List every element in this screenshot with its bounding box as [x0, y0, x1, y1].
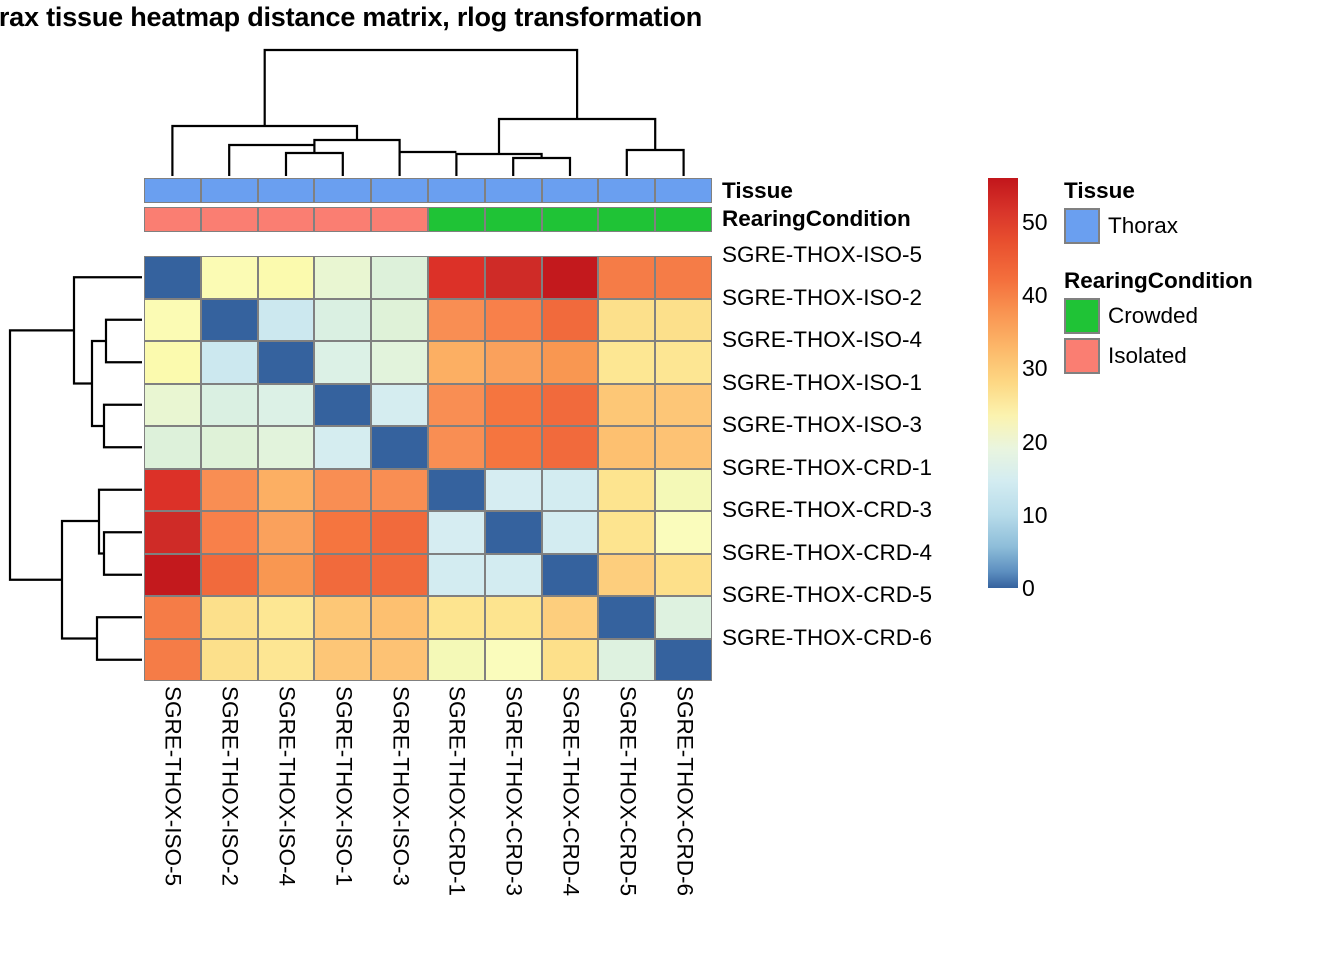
row-label: SGRE-THOX-ISO-3 [722, 404, 1002, 447]
row-label: SGRE-THOX-ISO-2 [722, 277, 1002, 320]
column-label-slot: SGRE-THOX-CRD-6 [655, 686, 712, 956]
distance-matrix-heatmap [144, 256, 712, 681]
heatmap-cell [428, 639, 485, 682]
heatmap-cell [655, 639, 712, 682]
tissue-annotation-cell [258, 178, 315, 203]
row-label: SGRE-THOX-ISO-1 [722, 362, 1002, 405]
heatmap-cell [144, 426, 201, 469]
heatmap-cell [428, 384, 485, 427]
tissue-annotation-cell [428, 178, 485, 203]
rearing-annotation-cell [201, 207, 258, 232]
heatmap-cell [258, 511, 315, 554]
heatmap-cell [485, 554, 542, 597]
heatmap-cell [371, 426, 428, 469]
rearing-annotation-cell [655, 207, 712, 232]
annotation-bars [144, 178, 712, 236]
row-label: SGRE-THOX-CRD-3 [722, 489, 1002, 532]
heatmap-cell [258, 384, 315, 427]
heatmap-cell [314, 299, 371, 342]
column-label: SGRE-THOX-CRD-3 [502, 686, 525, 896]
heatmap-cell [144, 299, 201, 342]
colorbar-tick-label: 0 [1022, 577, 1035, 600]
heatmap-cell [144, 256, 201, 299]
heatmap-cell [542, 596, 599, 639]
heatmap-cell [201, 469, 258, 512]
row-label: SGRE-THOX-CRD-1 [722, 447, 1002, 490]
heatmap-cell [485, 469, 542, 512]
heatmap-cell [201, 596, 258, 639]
rearing-annotation-cell [144, 207, 201, 232]
colorbar-tick-label: 10 [1022, 504, 1048, 527]
legend-title: Tissue [1064, 178, 1324, 204]
heatmap-cell [371, 469, 428, 512]
heatmap-cell [201, 299, 258, 342]
rearing-annotation-cell [371, 207, 428, 232]
heatmap-cell [201, 554, 258, 597]
legend-label: Thorax [1108, 213, 1178, 239]
heatmap-cell [258, 596, 315, 639]
heatmap-cell [201, 639, 258, 682]
heatmap-cell [598, 384, 655, 427]
row-dendrogram [4, 256, 142, 680]
heatmap-cell [542, 426, 599, 469]
heatmap-cell [371, 384, 428, 427]
colorbar-tick-label: 20 [1022, 431, 1048, 454]
row-label: SGRE-THOX-ISO-5 [722, 234, 1002, 277]
heatmap-cell [258, 299, 315, 342]
column-label-slot: SGRE-THOX-CRD-5 [598, 686, 655, 956]
heatmap-cell [428, 469, 485, 512]
heatmap-cell [655, 426, 712, 469]
heatmap-cell [485, 511, 542, 554]
heatmap-cell [485, 384, 542, 427]
heatmap-cell [485, 596, 542, 639]
heatmap-cell [314, 341, 371, 384]
row-label: SGRE-THOX-CRD-4 [722, 532, 1002, 575]
tissue-annotation-cell [485, 178, 542, 203]
heatmap-cell [655, 554, 712, 597]
heatmap-cell [598, 341, 655, 384]
legend-title: RearingCondition [1064, 268, 1324, 294]
heatmap-cell [428, 426, 485, 469]
column-label: SGRE-THOX-ISO-3 [388, 686, 411, 886]
tissue-annotation-cell [542, 178, 599, 203]
heatmap-cell [201, 341, 258, 384]
column-label: SGRE-THOX-CRD-1 [445, 686, 468, 896]
column-dendrogram [144, 44, 712, 176]
column-label-slot: SGRE-THOX-ISO-5 [144, 686, 201, 956]
column-label: SGRE-THOX-CRD-4 [559, 686, 582, 896]
page-title: Thorax tissue heatmap distance matrix, r… [0, 2, 702, 33]
column-label-slot: SGRE-THOX-ISO-4 [258, 686, 315, 956]
heatmap-cell [314, 639, 371, 682]
heatmap-cell [144, 596, 201, 639]
legend-spacer [1064, 246, 1324, 268]
heatmap-cell [201, 511, 258, 554]
legend-label: Crowded [1108, 303, 1198, 329]
colorbar-tick-label: 50 [1022, 211, 1048, 234]
column-label: SGRE-THOX-ISO-4 [275, 686, 298, 886]
heatmap-cell [542, 384, 599, 427]
heatmap-cell [314, 384, 371, 427]
rearing-annotation-cell [485, 207, 542, 232]
heatmap-cell [428, 341, 485, 384]
heatmap-cell [314, 511, 371, 554]
legend-panel: TissueThoraxRearingConditionCrowdedIsola… [1064, 178, 1324, 376]
heatmap-cell [598, 426, 655, 469]
legend-entry: Isolated [1064, 336, 1324, 376]
colorbar-tick-label: 40 [1022, 284, 1048, 307]
heatmap-cell [542, 299, 599, 342]
heatmap-cell [428, 554, 485, 597]
heatmap-cell [655, 596, 712, 639]
row-label-column: Tissue RearingCondition SGRE-THOX-ISO-5S… [722, 178, 1002, 659]
heatmap-cell [485, 256, 542, 299]
heatmap-cell [598, 596, 655, 639]
heatmap-cell [144, 554, 201, 597]
column-label-slot: SGRE-THOX-CRD-4 [542, 686, 599, 956]
heatmap-cell [598, 554, 655, 597]
heatmap-cell [258, 639, 315, 682]
heatmap-cell [598, 469, 655, 512]
heatmap-cell [542, 469, 599, 512]
column-label: SGRE-THOX-CRD-5 [616, 686, 639, 896]
heatmap-cell [428, 511, 485, 554]
heatmap-cell [258, 469, 315, 512]
rearing-annotation-cell [542, 207, 599, 232]
heatmap-cell [542, 256, 599, 299]
heatmap-cell [144, 384, 201, 427]
colorbar-tick-label: 30 [1022, 357, 1048, 380]
heatmap-cell [144, 639, 201, 682]
heatmap-cell [371, 554, 428, 597]
column-label: SGRE-THOX-ISO-1 [332, 686, 355, 886]
heatmap-cell [598, 299, 655, 342]
heatmap-cell [655, 384, 712, 427]
column-label-slot: SGRE-THOX-ISO-1 [314, 686, 371, 956]
tissue-annotation-cell [655, 178, 712, 203]
heatmap-cell [144, 511, 201, 554]
heatmap-cell [428, 596, 485, 639]
heatmap-cell [371, 511, 428, 554]
heatmap-cell [201, 384, 258, 427]
heatmap-cell [542, 341, 599, 384]
heatmap-cell [485, 426, 542, 469]
rearing-annotation-cell [428, 207, 485, 232]
legend-entry: Thorax [1064, 206, 1324, 246]
column-label-row: SGRE-THOX-ISO-5SGRE-THOX-ISO-2SGRE-THOX-… [144, 686, 712, 956]
heatmap-cell [598, 256, 655, 299]
column-label-slot: SGRE-THOX-ISO-3 [371, 686, 428, 956]
heatmap-cell [258, 426, 315, 469]
legend-entry: Crowded [1064, 296, 1324, 336]
row-label: SGRE-THOX-CRD-6 [722, 617, 1002, 660]
heatmap-cell [485, 299, 542, 342]
column-label-slot: SGRE-THOX-CRD-3 [485, 686, 542, 956]
heatmap-cell [371, 299, 428, 342]
heatmap-cell [201, 256, 258, 299]
heatmap-cell [371, 341, 428, 384]
rearing-annotation-cell [314, 207, 371, 232]
heatmap-cell [655, 256, 712, 299]
heatmap-cell [428, 256, 485, 299]
tissue-annotation-bar [144, 178, 712, 203]
heatmap-cell [371, 639, 428, 682]
heatmap-cell [258, 554, 315, 597]
tissue-annotation-label: Tissue [722, 178, 1002, 205]
heatmap-cell [542, 554, 599, 597]
heatmap-cell [144, 341, 201, 384]
heatmap-cell [598, 639, 655, 682]
row-label: SGRE-THOX-ISO-4 [722, 319, 1002, 362]
rearing-annotation-cell [598, 207, 655, 232]
column-label-slot: SGRE-THOX-ISO-2 [201, 686, 258, 956]
tissue-annotation-cell [144, 178, 201, 203]
heatmap-cell [314, 256, 371, 299]
column-label-slot: SGRE-THOX-CRD-1 [428, 686, 485, 956]
heatmap-cell [655, 299, 712, 342]
heatmap-cell [655, 341, 712, 384]
column-label: SGRE-THOX-ISO-5 [161, 686, 184, 886]
legend-swatch [1064, 338, 1100, 374]
heatmap-cell [542, 511, 599, 554]
colorbar [988, 178, 1018, 588]
heatmap-cell [314, 596, 371, 639]
legend-label: Isolated [1108, 343, 1187, 369]
column-label: SGRE-THOX-CRD-6 [672, 686, 695, 896]
heatmap-cell [655, 511, 712, 554]
heatmap-cell [144, 469, 201, 512]
column-label: SGRE-THOX-ISO-2 [218, 686, 241, 886]
tissue-annotation-cell [598, 178, 655, 203]
heatmap-cell [371, 596, 428, 639]
legend-swatch [1064, 298, 1100, 334]
heatmap-cell [542, 639, 599, 682]
rearing-annotation-label: RearingCondition [722, 205, 1002, 234]
row-label: SGRE-THOX-CRD-5 [722, 574, 1002, 617]
heatmap-cell [428, 299, 485, 342]
heatmap-cell [485, 341, 542, 384]
tissue-annotation-cell [314, 178, 371, 203]
heatmap-cell [314, 469, 371, 512]
tissue-annotation-cell [371, 178, 428, 203]
heatmap-cell [598, 511, 655, 554]
heatmap-cell [314, 426, 371, 469]
heatmap-cell [258, 341, 315, 384]
heatmap-cell [655, 469, 712, 512]
tissue-annotation-cell [201, 178, 258, 203]
heatmap-cell [314, 554, 371, 597]
heatmap-cell [201, 426, 258, 469]
heatmap-cell [485, 639, 542, 682]
rearing-annotation-cell [258, 207, 315, 232]
heatmap-cell [371, 256, 428, 299]
rearing-condition-annotation-bar [144, 207, 712, 232]
heatmap-cell [258, 256, 315, 299]
legend-swatch [1064, 208, 1100, 244]
